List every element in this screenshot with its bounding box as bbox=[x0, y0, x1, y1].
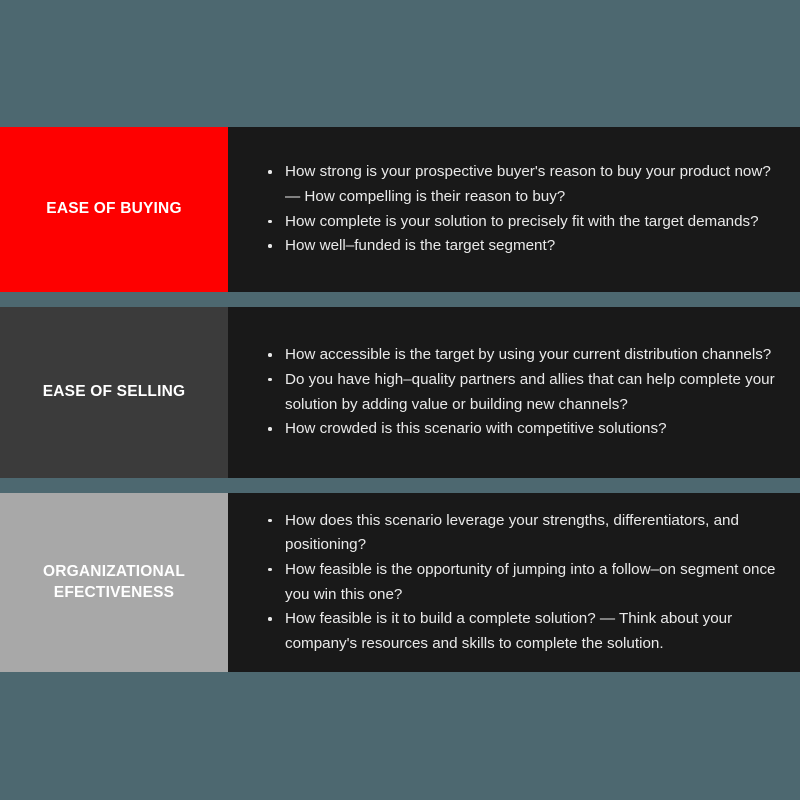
list-item: Do you have high–quality partners and al… bbox=[268, 368, 778, 417]
row-label-ease-of-buying: EASE OF BUYING bbox=[46, 199, 181, 220]
bullet-list-ease-of-selling: How accessible is the target by using yo… bbox=[228, 343, 778, 442]
criteria-board: EASE OF BUYING How strong is your prospe… bbox=[0, 0, 800, 800]
bullet-list-organizational-effectiveness: How does this scenario leverage your str… bbox=[228, 509, 778, 657]
list-item: How accessible is the target by using yo… bbox=[268, 343, 778, 368]
criteria-row-organizational-effectiveness: ORGANIZATIONAL EFECTIVENESS How does thi… bbox=[0, 493, 800, 672]
row-content-organizational-effectiveness: How does this scenario leverage your str… bbox=[228, 493, 800, 672]
list-item: How strong is your prospective buyer's r… bbox=[268, 160, 778, 209]
row-label-cell-ease-of-buying: EASE OF BUYING bbox=[0, 127, 228, 292]
row-content-ease-of-buying: How strong is your prospective buyer's r… bbox=[228, 127, 800, 292]
row-label-cell-ease-of-selling: EASE OF SELLING bbox=[0, 307, 228, 478]
row-label-ease-of-selling: EASE OF SELLING bbox=[43, 382, 186, 403]
list-item: How complete is your solution to precise… bbox=[268, 210, 778, 235]
list-item: How well–funded is the target segment? bbox=[268, 234, 778, 259]
list-item: How feasible is it to build a complete s… bbox=[268, 607, 778, 656]
list-item: How crowded is this scenario with compet… bbox=[268, 417, 778, 442]
list-item: How feasible is the opportunity of jumpi… bbox=[268, 558, 778, 607]
criteria-row-ease-of-buying: EASE OF BUYING How strong is your prospe… bbox=[0, 127, 800, 292]
row-label-cell-organizational-effectiveness: ORGANIZATIONAL EFECTIVENESS bbox=[0, 493, 228, 672]
list-item: How does this scenario leverage your str… bbox=[268, 509, 778, 558]
row-label-organizational-effectiveness: ORGANIZATIONAL EFECTIVENESS bbox=[14, 562, 214, 604]
bullet-list-ease-of-buying: How strong is your prospective buyer's r… bbox=[228, 160, 778, 259]
row-content-ease-of-selling: How accessible is the target by using yo… bbox=[228, 307, 800, 478]
criteria-row-ease-of-selling: EASE OF SELLING How accessible is the ta… bbox=[0, 307, 800, 478]
